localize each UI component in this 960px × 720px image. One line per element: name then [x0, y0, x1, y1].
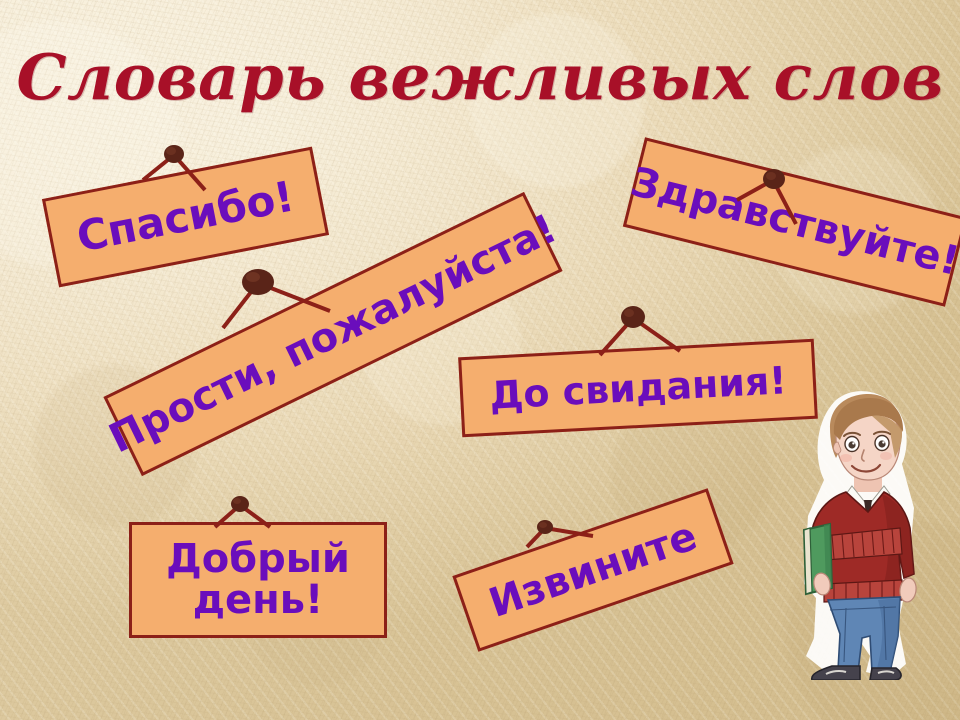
sign-label-dobryy-den-line2: день!: [183, 580, 334, 621]
page-title: Словарь вежливых слов: [0, 46, 960, 109]
boy-cheek-left: [840, 454, 852, 462]
boy-cheek-right: [880, 452, 892, 460]
boy-pupil-right: [878, 440, 885, 447]
boy-eye-glint-right: [882, 441, 884, 443]
boy-shoe-right: [870, 668, 901, 680]
boy-eye-glint-left: [852, 442, 854, 444]
boy-shoe-left: [812, 666, 860, 680]
boy-pupil-left: [848, 441, 855, 448]
sign-card-dobryy-den[interactable]: Добрый день!: [129, 522, 387, 638]
sign-label-do-svidaniya: До свидания!: [479, 360, 798, 415]
slide-canvas: Словарь вежливых слов Спасибо! Здравству…: [0, 0, 960, 720]
schoolboy-svg: [786, 388, 956, 680]
sign-label-dobryy-den-line1: Добрый: [156, 539, 360, 580]
illustration-schoolboy: [786, 388, 956, 680]
